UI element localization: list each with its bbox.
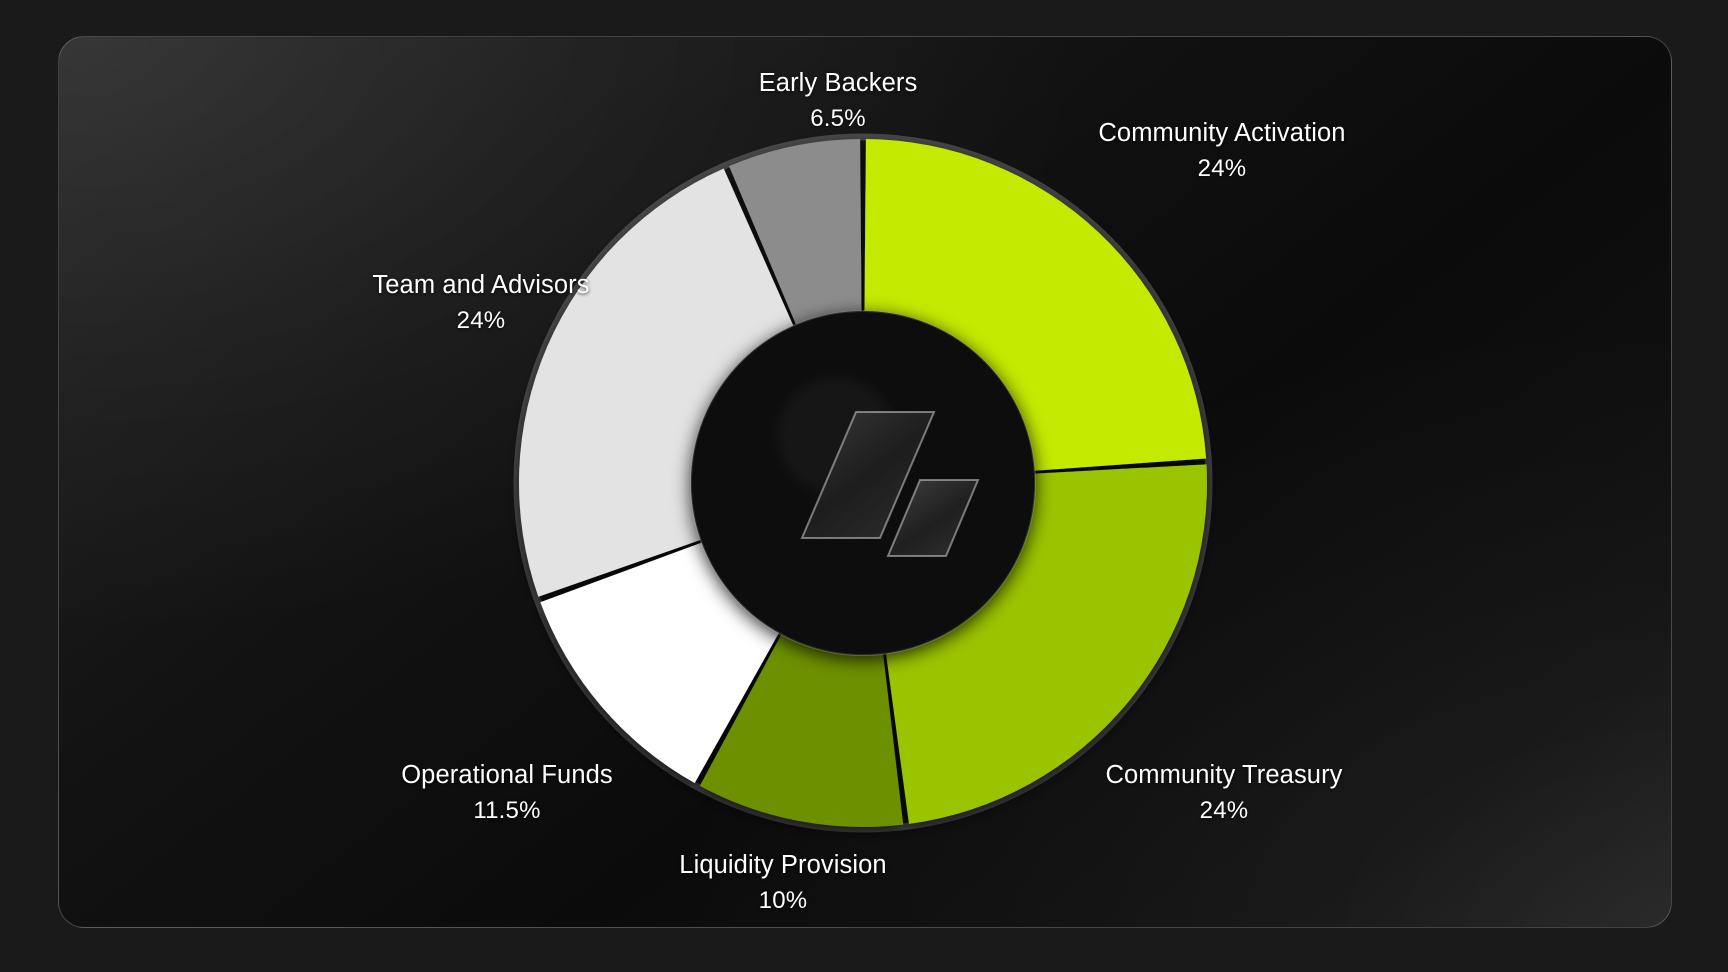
chart-card: Early Backers 6.5% Community Activation … xyxy=(58,36,1672,928)
slice-label-community-activation-value: 24% xyxy=(1098,154,1345,184)
donut-chart: Early Backers 6.5% Community Activation … xyxy=(59,37,1671,927)
slice-label-liquidity-provision-name: Liquidity Provision xyxy=(679,849,886,881)
slice-label-operational-funds-name: Operational Funds xyxy=(401,759,613,791)
slice-label-liquidity-provision-value: 10% xyxy=(679,886,886,916)
slice-label-community-treasury: Community Treasury 24% xyxy=(1105,759,1342,826)
slice-label-early-backers: Early Backers 6.5% xyxy=(759,67,918,134)
slice-label-liquidity-provision: Liquidity Provision 10% xyxy=(679,849,886,916)
slice-label-team-and-advisors-value: 24% xyxy=(372,306,589,336)
slice-label-community-activation-name: Community Activation xyxy=(1098,117,1345,149)
slice-label-early-backers-name: Early Backers xyxy=(759,67,918,99)
slice-label-community-treasury-value: 24% xyxy=(1105,796,1342,826)
donut-chart-svg xyxy=(59,37,1672,928)
slice-label-team-and-advisors-name: Team and Advisors xyxy=(372,269,589,301)
slice-label-community-treasury-name: Community Treasury xyxy=(1105,759,1342,791)
slice-label-early-backers-value: 6.5% xyxy=(759,104,918,134)
slice-label-operational-funds: Operational Funds 11.5% xyxy=(401,759,613,826)
slice-label-community-activation: Community Activation 24% xyxy=(1098,117,1345,184)
slice-label-team-and-advisors: Team and Advisors 24% xyxy=(372,269,589,336)
slice-label-operational-funds-value: 11.5% xyxy=(401,796,613,826)
donut-center-hub xyxy=(691,311,1035,655)
page-root: Early Backers 6.5% Community Activation … xyxy=(0,0,1728,972)
